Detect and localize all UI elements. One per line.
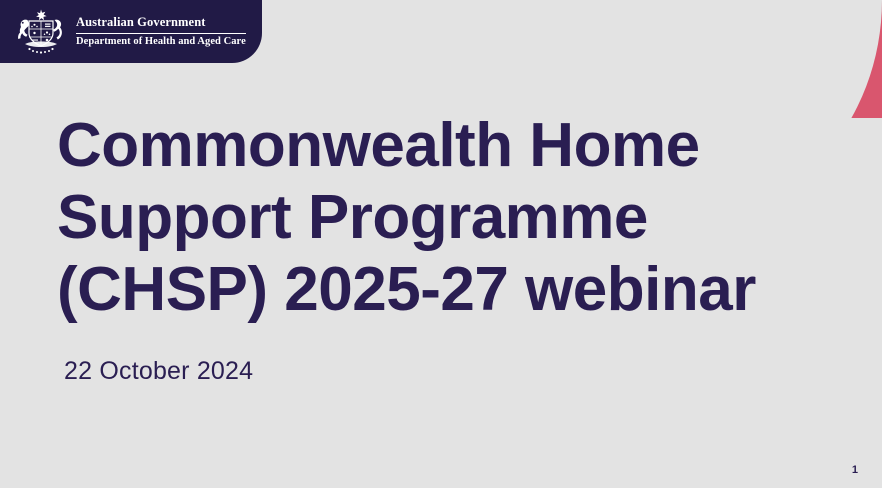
- page-title: Commonwealth Home Support Programme (CHS…: [57, 110, 817, 326]
- australian-coat-of-arms-icon: [14, 8, 68, 56]
- title-line-2: Support Programme: [57, 182, 817, 254]
- corner-accent-decoration: [782, 0, 882, 118]
- government-wordmark: Australian Government Department of Heal…: [76, 15, 246, 47]
- government-branding-banner: Australian Government Department of Heal…: [0, 0, 262, 63]
- wordmark-divider: [76, 33, 246, 34]
- organisation-name: Australian Government: [76, 15, 246, 31]
- title-block: Commonwealth Home Support Programme (CHS…: [57, 110, 817, 326]
- presentation-slide: Australian Government Department of Heal…: [0, 0, 882, 488]
- department-name: Department of Health and Aged Care: [76, 36, 246, 48]
- accent-cutout: [782, 0, 882, 118]
- title-line-3: (CHSP) 2025-27 webinar: [57, 254, 817, 326]
- title-line-1: Commonwealth Home: [57, 110, 817, 182]
- accent-fill: [782, 0, 882, 118]
- page-number: 1: [852, 464, 858, 476]
- presentation-date: 22 October 2024: [64, 357, 253, 386]
